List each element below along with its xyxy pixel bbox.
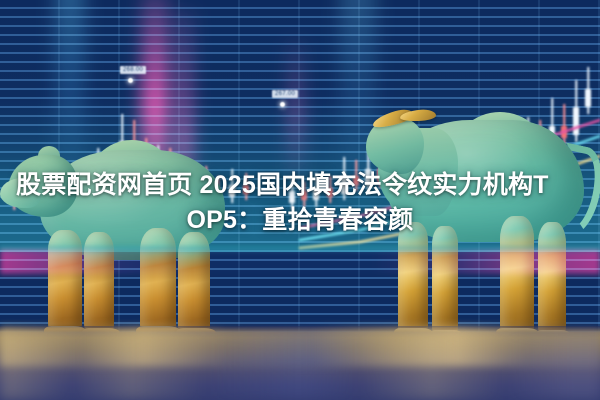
bear-hind-leg-left (140, 228, 176, 340)
price-tag-left: 268.00 (120, 66, 146, 74)
price-tag-right: 267.00 (272, 90, 298, 98)
price-tag-right-marker (280, 102, 285, 107)
bull-hind-leg-left (500, 216, 534, 340)
price-tag-left-marker (128, 78, 133, 83)
bear-snout (0, 178, 42, 208)
bear-front-leg-right (84, 232, 114, 338)
bull-hind-leg-right (538, 222, 566, 340)
bear-hind-leg-right (178, 232, 210, 340)
bear-front-leg-left (48, 230, 82, 338)
bull-front-leg-left (398, 222, 428, 340)
bull-front-leg-right (432, 226, 458, 340)
hero-banner: 268.00267.00 (0, 0, 600, 400)
stage-floor-reflection (0, 336, 600, 400)
